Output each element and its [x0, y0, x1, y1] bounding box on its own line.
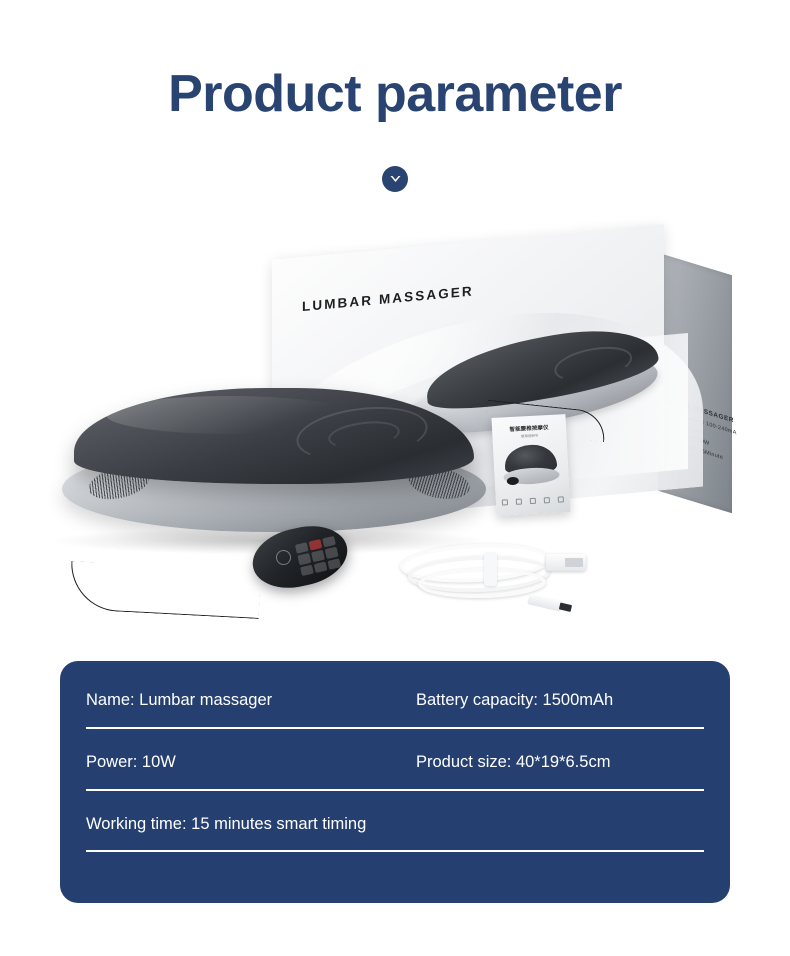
spec-working-time: Working time: 15 minutes smart timing	[86, 815, 416, 835]
remote-key	[309, 539, 323, 551]
spec-row: Working time: 15 minutes smart timing	[86, 815, 704, 835]
usb-charging-cable	[398, 540, 588, 612]
spec-battery-capacity: Battery capacity: 1500mAh	[416, 691, 704, 711]
page-title: Product parameter	[0, 66, 790, 123]
product-parameter-page: Product parameter LUMBAR MASSAGER Workin…	[0, 0, 790, 956]
manual-icon	[516, 499, 522, 505]
spec-empty	[416, 815, 704, 835]
remote-key	[322, 536, 336, 548]
manual-icon-row	[502, 496, 564, 505]
remote-cable	[69, 561, 261, 619]
remote-key	[295, 542, 309, 554]
lumbar-massager-device	[62, 386, 486, 534]
chevron-down-icon	[382, 166, 408, 192]
manual-icon	[530, 498, 536, 504]
remote-key	[325, 547, 339, 559]
spec-product-size: Product size: 40*19*6.5cm	[416, 753, 704, 773]
manual-icon	[502, 499, 508, 505]
spec-name: Name: Lumbar massager	[86, 691, 416, 711]
remote-key	[311, 550, 325, 562]
spec-power: Power: 10W	[86, 753, 416, 773]
spec-row: Name: Lumbar massager Battery capacity: …	[86, 691, 704, 711]
specs-panel: Name: Lumbar massager Battery capacity: …	[60, 661, 730, 903]
product-photo: LUMBAR MASSAGER Working current: 100-240…	[0, 210, 790, 650]
usb-a-connector	[546, 554, 586, 571]
spec-divider	[86, 850, 704, 852]
remote-control	[252, 528, 348, 586]
manual-remote-image	[507, 477, 519, 486]
massager-shell	[74, 388, 474, 484]
spec-row: Power: 10W Product size: 40*19*6.5cm	[86, 753, 704, 773]
manual-icon	[558, 496, 564, 502]
manual-icon	[544, 497, 550, 503]
box-front-title: LUMBAR MASSAGER	[302, 283, 474, 314]
cable-tie	[484, 552, 497, 586]
remote-key	[297, 553, 311, 565]
dc-barrel-connector	[527, 593, 563, 611]
